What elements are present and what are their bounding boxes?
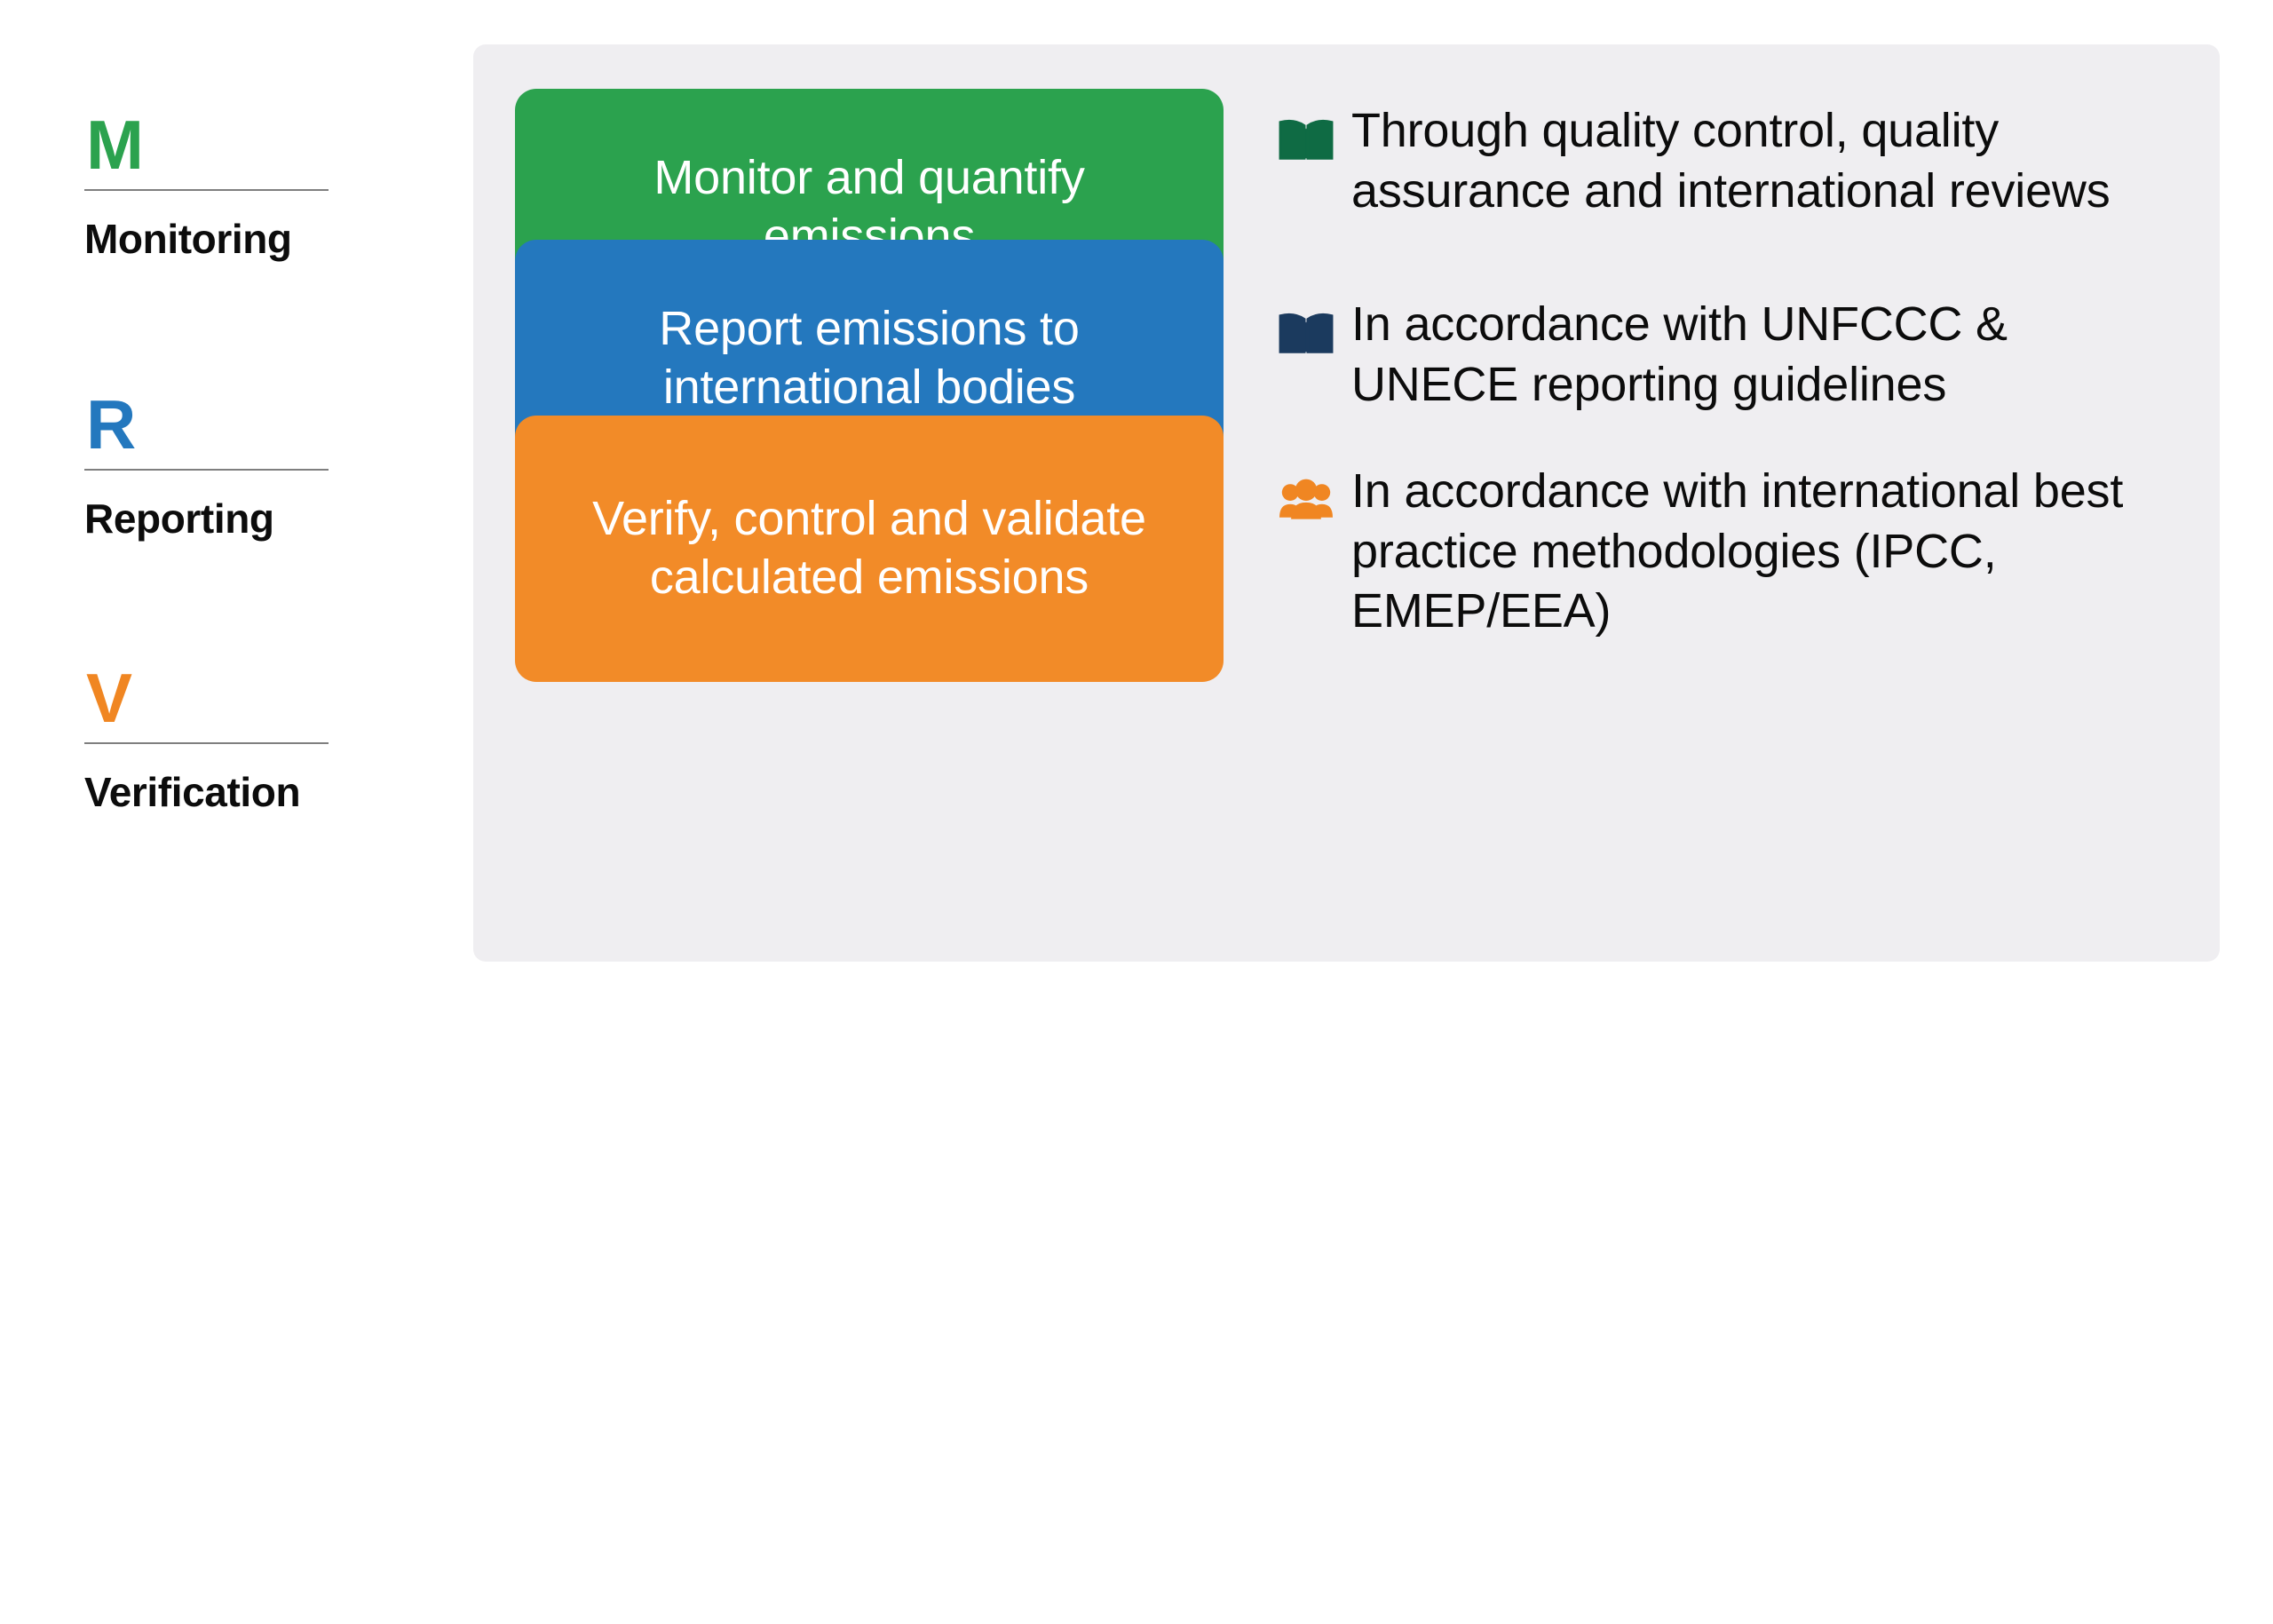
legend-label-reporting: Reporting (84, 497, 329, 540)
mrv-card-label-reporting: Report emissions to international bodies (561, 300, 1177, 417)
legend-item-monitoring: M Monitoring (84, 111, 329, 260)
legend-label-verification: Verification (84, 771, 329, 813)
mrv-note-reporting: In accordance with UNFCCC & UNECE report… (1279, 295, 2220, 415)
mrv-card-label-verification: Verify, control and validate calculated … (561, 490, 1177, 607)
mrv-note-label-monitoring: Through quality control, quality assuran… (1351, 101, 2184, 221)
mrv-note-label-verification: In accordance with international best pr… (1351, 462, 2184, 642)
legend-divider-monitoring (84, 189, 329, 191)
mrv-panel: Monitor and quantify emissions Through q… (473, 44, 2220, 962)
legend-divider-verification (84, 742, 329, 744)
legend-letter-r: R (84, 391, 329, 465)
mrv-card-verification[interactable]: Verify, control and validate calculated … (515, 416, 1224, 682)
mrv-row-verification: Verify, control and validate calculated … (473, 416, 2220, 682)
legend-item-reporting: R Reporting (84, 391, 329, 540)
legend-label-monitoring: Monitoring (84, 218, 329, 260)
legend-divider-reporting (84, 469, 329, 471)
mrv-note-verification: In accordance with international best pr… (1279, 462, 2220, 642)
legend-item-verification: V Verification (84, 664, 329, 813)
open-book-icon (1279, 112, 1334, 167)
open-book-icon (1279, 305, 1334, 360)
mrv-note-label-reporting: In accordance with UNFCCC & UNECE report… (1351, 295, 2184, 415)
mrv-legend-column: M Monitoring R Reporting V Verification (84, 0, 342, 977)
legend-letter-m: M (84, 111, 329, 186)
mrv-note-monitoring: Through quality control, quality assuran… (1279, 101, 2220, 221)
people-group-icon (1279, 472, 1334, 527)
legend-letter-v: V (84, 664, 329, 739)
